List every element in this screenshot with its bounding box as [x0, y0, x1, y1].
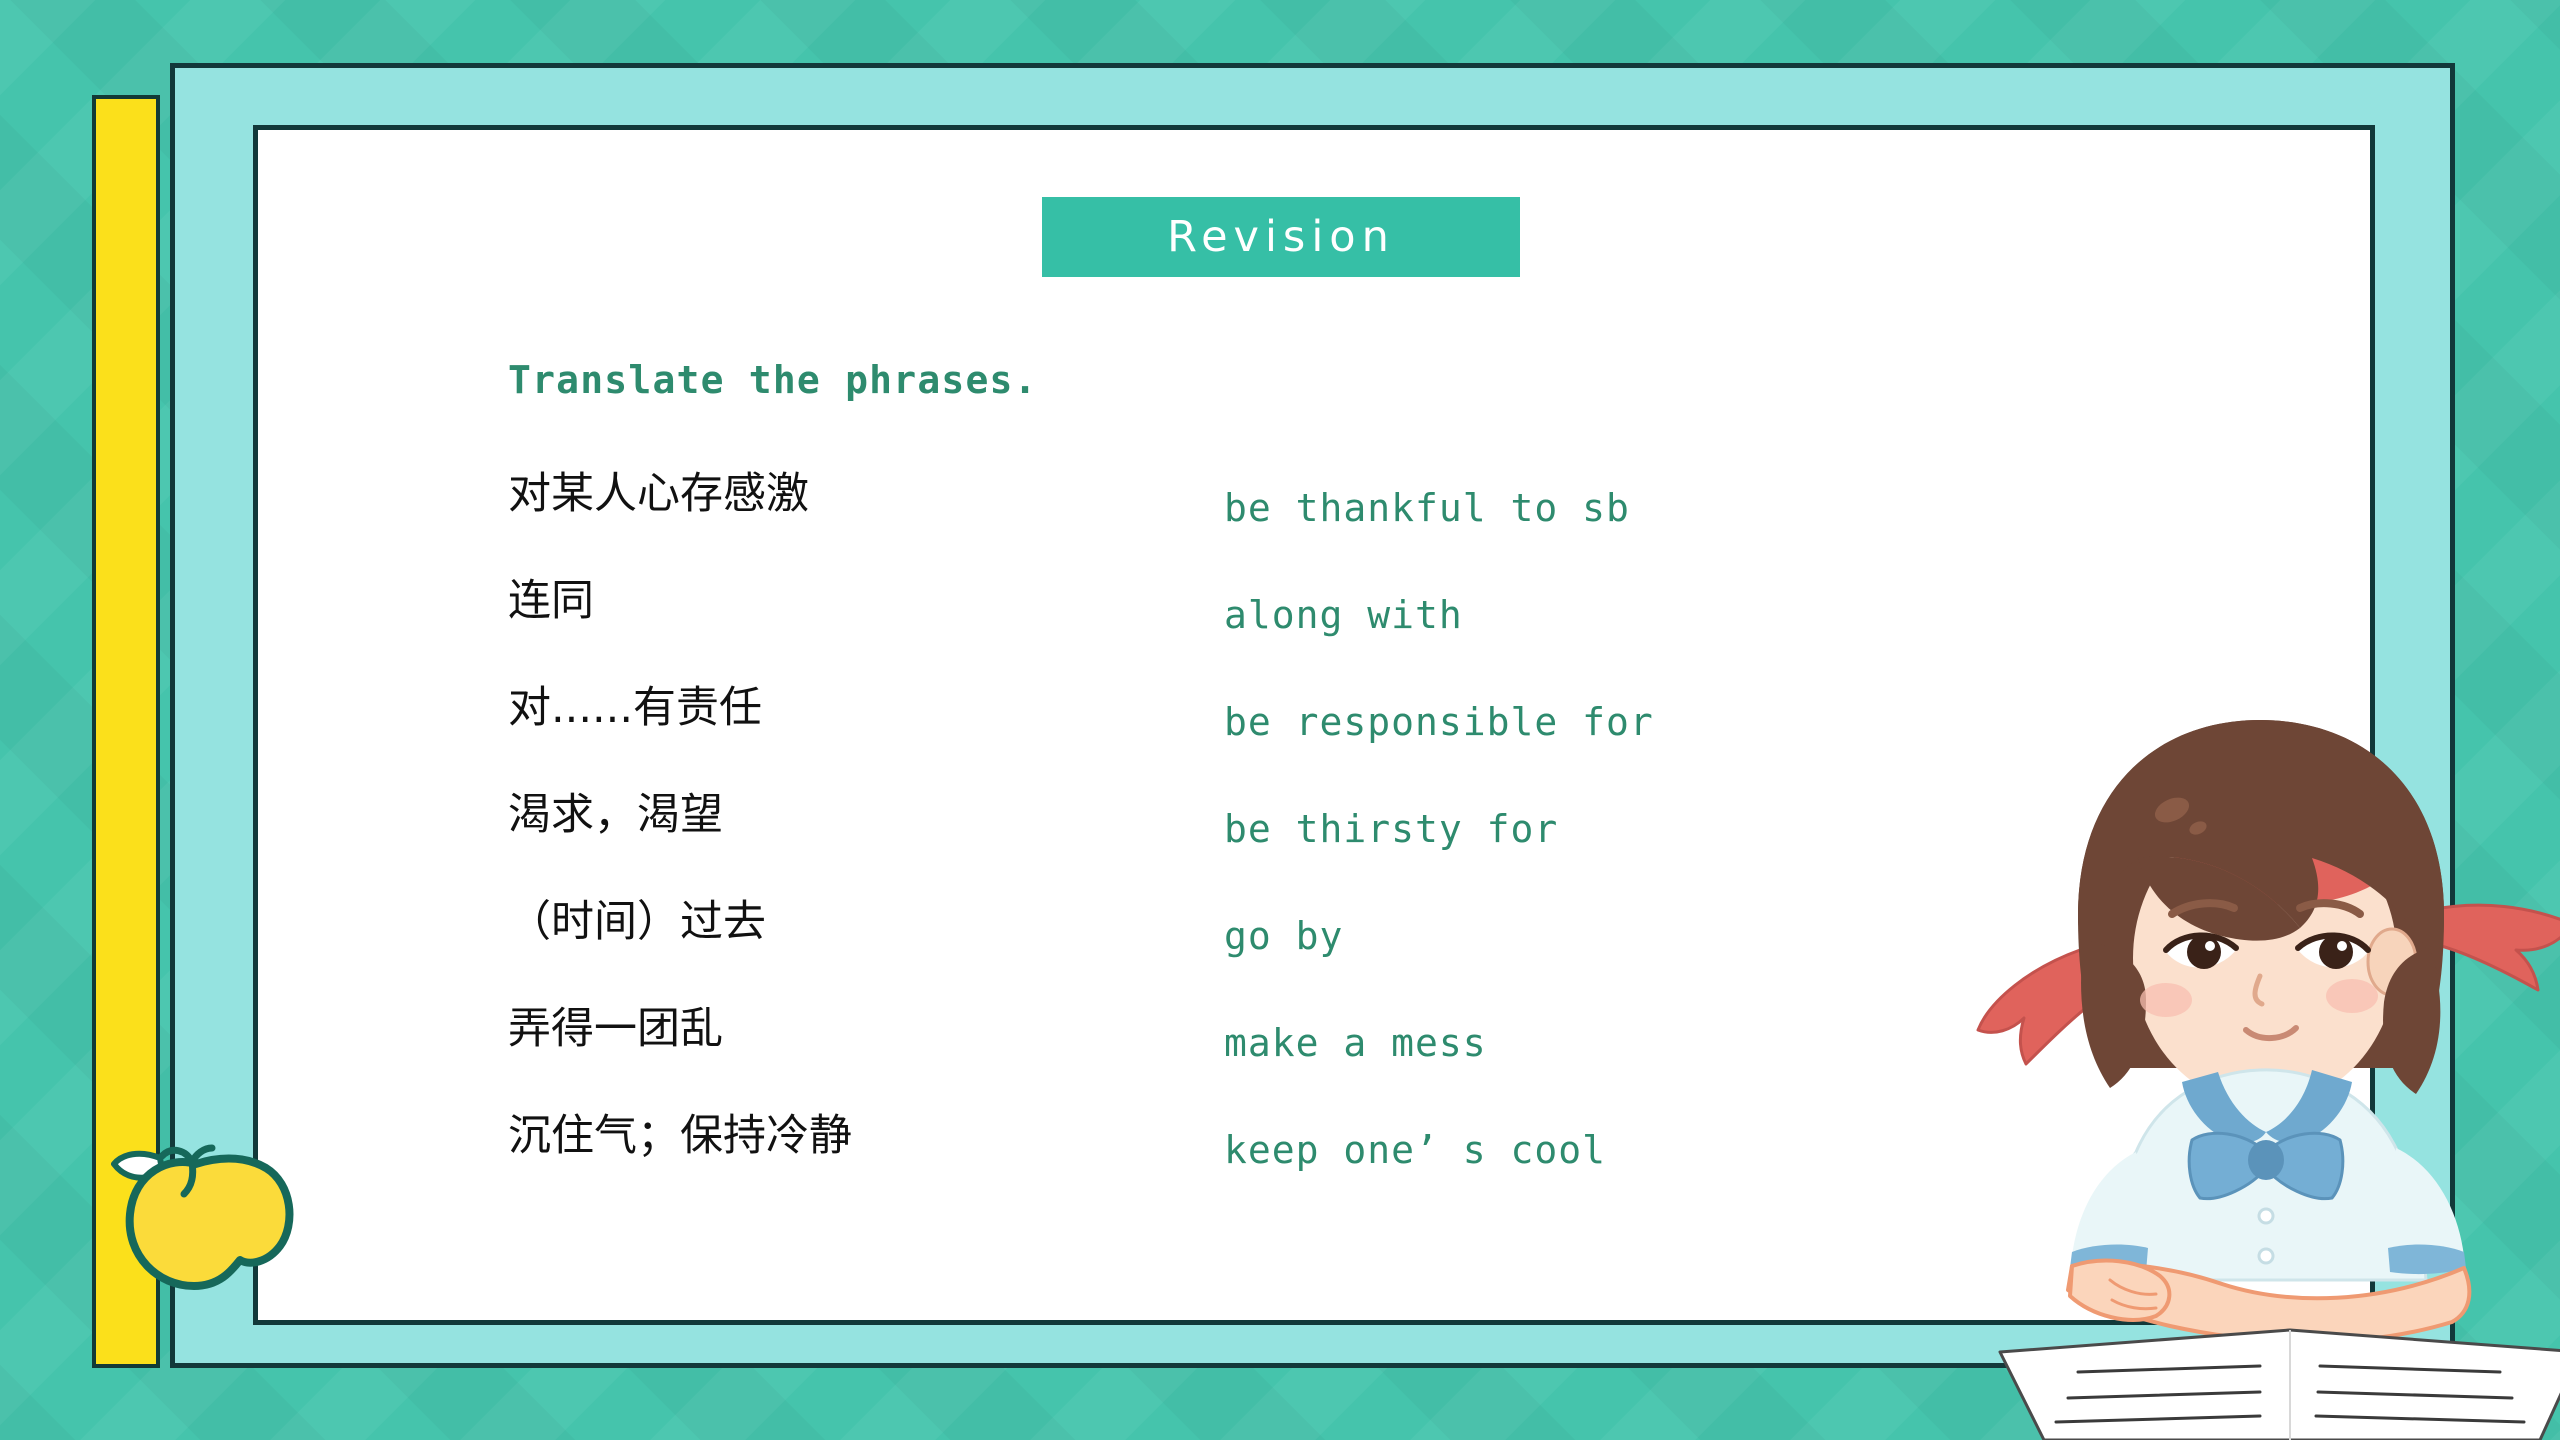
table-row: 连同 along with — [508, 579, 1808, 686]
english-phrase: along with — [1224, 596, 1463, 636]
english-phrase: make a mess — [1224, 1024, 1487, 1064]
english-phrase: go by — [1224, 917, 1343, 957]
english-phrase: be responsible for — [1224, 703, 1654, 743]
girl-studying-illustration — [1960, 700, 2560, 1440]
chinese-phrase: 对某人心存感激 — [508, 472, 809, 517]
english-phrase: be thankful to sb — [1224, 489, 1630, 529]
table-row: 弄得一团乱 make a mess — [508, 1007, 1808, 1114]
chinese-phrase: 对......有责任 — [508, 686, 762, 731]
chinese-phrase: （时间）过去 — [508, 900, 766, 945]
english-phrase: be thirsty for — [1224, 810, 1558, 850]
apple-icon — [100, 1110, 310, 1295]
chinese-phrase: 沉住气；保持冷静 — [508, 1114, 852, 1159]
slide-canvas: Revision Translate the phrases. 对某人心存感激 … — [0, 0, 2560, 1440]
chinese-phrase: 连同 — [508, 579, 594, 624]
table-row: （时间）过去 go by — [508, 900, 1808, 1007]
phrase-table: 对某人心存感激 be thankful to sb 连同 along with … — [508, 472, 1808, 1221]
english-phrase: keep one’ s cool — [1224, 1131, 1606, 1171]
table-row: 对......有责任 be responsible for — [508, 686, 1808, 793]
chinese-phrase: 弄得一团乱 — [508, 1007, 723, 1052]
table-row: 渴求，渴望 be thirsty for — [508, 793, 1808, 900]
table-row: 沉住气；保持冷静 keep one’ s cool — [508, 1114, 1808, 1221]
instruction-heading: Translate the phrases. — [508, 358, 1038, 402]
title-banner: Revision — [1042, 197, 1520, 277]
page-title: Revision — [1167, 212, 1395, 262]
chinese-phrase: 渴求，渴望 — [508, 793, 723, 838]
table-row: 对某人心存感激 be thankful to sb — [508, 472, 1808, 579]
